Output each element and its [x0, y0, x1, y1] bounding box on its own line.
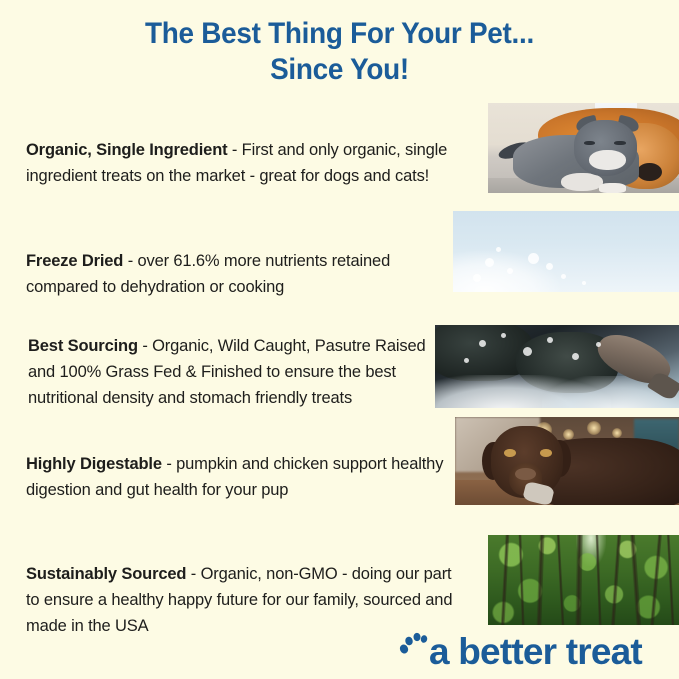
ice-sparkle — [485, 258, 494, 267]
paw-print-icon — [395, 629, 441, 675]
water-spray — [479, 340, 486, 347]
ice-sparkle — [582, 281, 586, 285]
bokeh-light — [612, 428, 622, 438]
cat-muzzle — [589, 150, 625, 170]
water-spray — [547, 337, 553, 343]
ice-sparkle — [561, 274, 566, 279]
page-title: The Best Thing For Your Pet... Since You… — [0, 16, 679, 88]
water-spray — [572, 353, 579, 360]
dog-eye-left — [504, 449, 516, 457]
headline-line-2: Since You! — [24, 52, 655, 88]
brand-logo[interactable]: a better treat — [395, 628, 669, 676]
photo-scene — [453, 211, 679, 292]
salmon-leaping-river-photo — [435, 325, 679, 408]
dog-nose — [515, 468, 535, 480]
chocolate-labrador-photo — [455, 417, 679, 505]
green-forest-canopy-photo — [488, 535, 679, 625]
benefit-term: Organic, Single Ingredient — [26, 141, 232, 159]
ice-sparkle — [528, 253, 539, 264]
photo-scene — [435, 325, 679, 408]
headline-line-1: The Best Thing For Your Pet... — [24, 16, 655, 52]
infographic-poster: The Best Thing For Your Pet... Since You… — [0, 0, 679, 679]
ice-sparkle — [507, 268, 513, 274]
benefit-item-best-sourcing: Best Sourcing - Organic, Wild Caught, Pa… — [28, 333, 428, 411]
water-spray — [596, 342, 601, 347]
benefit-term: Best Sourcing — [28, 337, 142, 355]
photo-scene — [488, 535, 679, 625]
cat-and-golden-retriever-photo — [488, 103, 679, 193]
frost-ice-crystals-photo — [453, 211, 679, 292]
ice-sparkle — [546, 263, 553, 270]
benefit-term: Freeze Dried — [26, 252, 128, 270]
benefit-term: Highly Digestable — [26, 455, 166, 473]
benefit-item-organic-single-ingredient: Organic, Single Ingredient - First and o… — [26, 137, 458, 189]
benefit-item-freeze-dried: Freeze Dried - over 61.6% more nutrients… — [26, 248, 446, 300]
bokeh-light — [587, 421, 601, 435]
cat-eye-right — [614, 141, 625, 146]
benefit-item-sustainably-sourced: Sustainably Sourced - Organic, non-GMO -… — [26, 561, 466, 639]
dog-eye-right — [540, 449, 552, 457]
water-spray — [523, 347, 532, 356]
cat-chest — [561, 173, 603, 191]
brand-name: a better treat — [429, 632, 642, 672]
cat-eye-left — [584, 141, 595, 146]
cat-paw — [599, 183, 626, 193]
photo-scene — [455, 417, 679, 505]
benefit-item-highly-digestable: Highly Digestable - pumpkin and chicken … — [26, 451, 446, 503]
benefit-term: Sustainably Sourced — [26, 565, 191, 583]
ice-sparkle — [496, 247, 501, 252]
photo-scene — [488, 103, 679, 193]
